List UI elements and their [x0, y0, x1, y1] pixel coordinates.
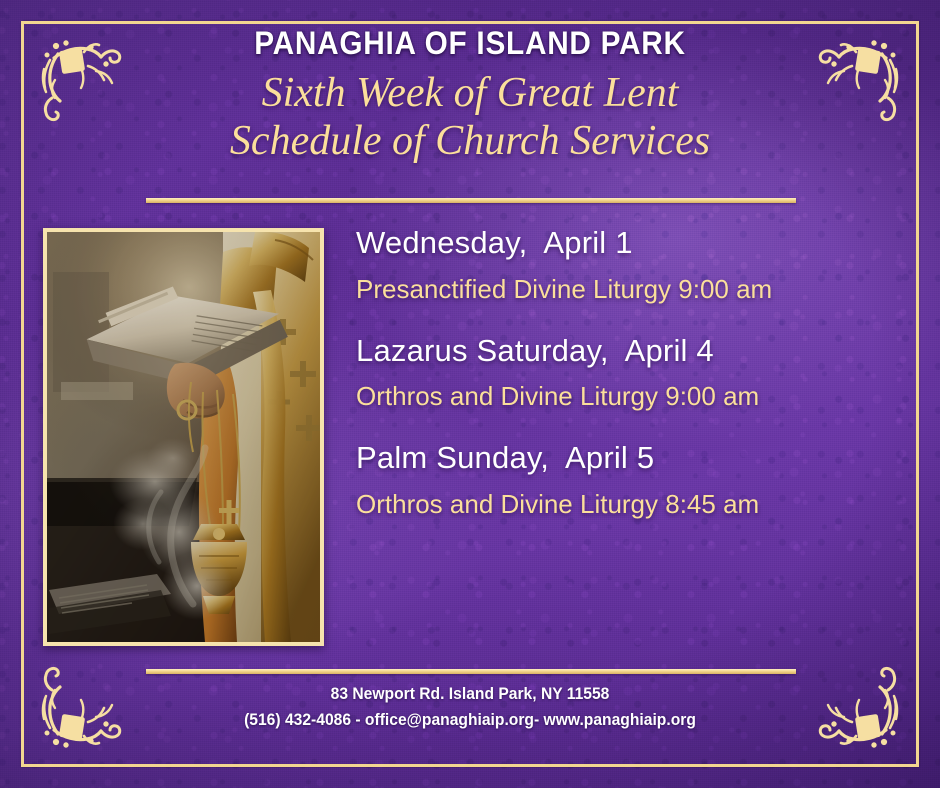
schedule-entry-day: Palm Sunday, April 5 [356, 439, 876, 478]
subtitle-line-1: Sixth Week of Great Lent [0, 71, 940, 116]
divider-top [146, 198, 796, 203]
schedule-entry-service: Presanctified Divine Liturgy 9:00 am [356, 273, 876, 307]
poster-canvas: PANAGHIA OF ISLAND PARK Sixth Week of Gr… [0, 0, 940, 788]
footer-address: 83 Newport Rd. Island Park, NY 11558 [38, 681, 903, 707]
service-schedule-list: Wednesday, April 1 Presanctified Divine … [356, 224, 876, 522]
schedule-entry-service: Orthros and Divine Liturgy 8:45 am [356, 488, 876, 522]
footer-contact: (516) 432-4086 - office@panaghiaip.org- … [38, 707, 903, 733]
schedule-entry: Lazarus Saturday, April 4 Orthros and Di… [356, 332, 876, 415]
schedule-entry: Palm Sunday, April 5 Orthros and Divine … [356, 439, 876, 522]
organization-title: PANAGHIA OF ISLAND PARK [33, 24, 907, 62]
service-photo [47, 232, 320, 642]
divider-bottom [146, 669, 796, 674]
schedule-entry-service: Orthros and Divine Liturgy 9:00 am [356, 380, 876, 414]
schedule-entry-day: Lazarus Saturday, April 4 [356, 332, 876, 371]
poster-header: PANAGHIA OF ISLAND PARK Sixth Week of Gr… [0, 24, 940, 164]
poster-footer: 83 Newport Rd. Island Park, NY 11558 (51… [0, 681, 940, 734]
schedule-entry-day: Wednesday, April 1 [356, 224, 876, 263]
subtitle-line-2: Schedule of Church Services [0, 119, 940, 164]
schedule-entry: Wednesday, April 1 Presanctified Divine … [356, 224, 876, 307]
service-photo-frame [43, 228, 324, 646]
